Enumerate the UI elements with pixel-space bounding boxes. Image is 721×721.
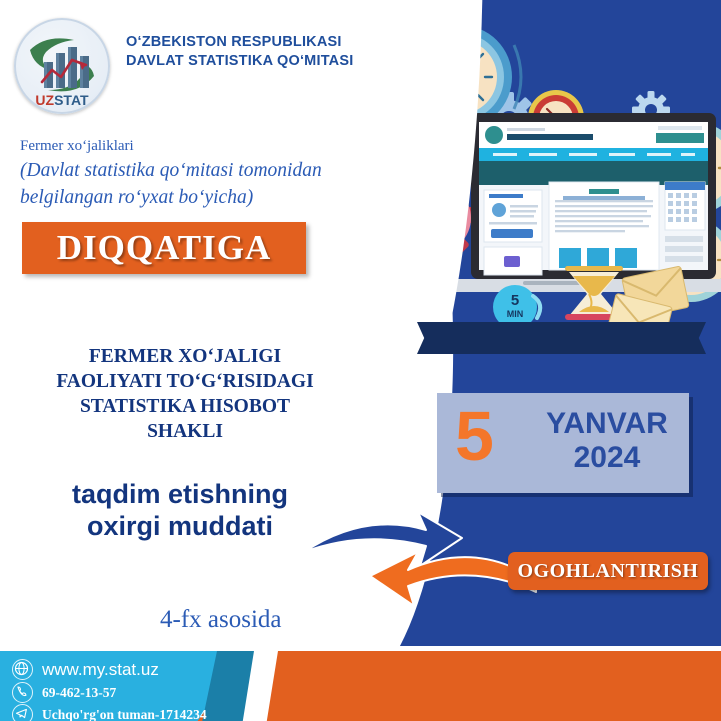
report-heading-line-2: FAOLIYATI TO‘G‘RISIDAGI — [20, 369, 350, 394]
deadline-day: 5 — [455, 401, 494, 471]
audience-note-line-2: belgilangan ro‘yxat bo‘yicha) — [20, 184, 370, 211]
svg-text:UZSTAT: UZSTAT — [35, 92, 89, 108]
org-line-1: O‘ZBEKISTON RESPUBLIKASI — [126, 33, 376, 52]
footer-address-row[interactable]: Uchqo'rg'on tuman-1714234 — [12, 704, 207, 721]
attention-badge-label: DIQQATIGA — [22, 228, 306, 268]
form-basis-label: 4-fx asosida — [160, 606, 282, 634]
audience-label: Fermer xo‘jaliklari — [20, 138, 134, 155]
deadline-date-box: 5 YANVAR 2024 — [437, 393, 689, 493]
uzstat-logo-icon: UZSTAT — [16, 20, 108, 112]
svg-text:MIN: MIN — [507, 309, 524, 319]
footer-website-row[interactable]: www.my.stat.uz — [12, 659, 159, 680]
blue-arrow-icon — [304, 512, 462, 566]
footer-address: Uchqo'rg'on tuman-1714234 — [42, 707, 207, 721]
warning-badge-label: OGOHLANTIRISH — [508, 560, 708, 583]
report-heading: FERMER XO‘JALIGI FAOLIYATI TO‘G‘RISIDAGI… — [20, 344, 350, 444]
telegram-icon — [12, 704, 33, 721]
audience-note-line-1: (Davlat statistika qo‘mitasi tomonidan — [20, 157, 370, 184]
deadline-month: YANVAR — [532, 407, 682, 440]
footer-bar: www.my.stat.uz 69-462-13-57 Uchqo'rg'on … — [0, 651, 721, 721]
phone-icon — [12, 682, 33, 703]
page-title: O‘ZBEKISTON RESPUBLIKASI DAVLAT STATISTI… — [126, 33, 376, 71]
globe-icon — [12, 659, 33, 680]
attention-badge: DIQQATIGA — [22, 222, 306, 274]
report-heading-line-4: SHAKLI — [20, 419, 350, 444]
poster-canvas: 5 MIN — [0, 0, 721, 721]
org-line-2: DAVLAT STATISTIKA QO‘MITASI — [126, 52, 376, 71]
footer-phone-row[interactable]: 69-462-13-57 — [12, 682, 116, 703]
svg-text:5: 5 — [511, 292, 519, 309]
ribbon-banner — [435, 322, 688, 354]
warning-badge: OGOHLANTIRISH — [508, 552, 708, 590]
footer-website: www.my.stat.uz — [42, 660, 159, 680]
report-heading-line-3: STATISTIKA HISOBOT — [20, 394, 350, 419]
report-heading-line-1: FERMER XO‘JALIGI — [20, 344, 350, 369]
audience-note: (Davlat statistika qo‘mitasi tomonidan b… — [20, 157, 370, 211]
uzstat-logo: UZSTAT — [14, 18, 110, 114]
deadline-year: 2024 — [532, 441, 682, 474]
footer-phone: 69-462-13-57 — [42, 685, 116, 701]
